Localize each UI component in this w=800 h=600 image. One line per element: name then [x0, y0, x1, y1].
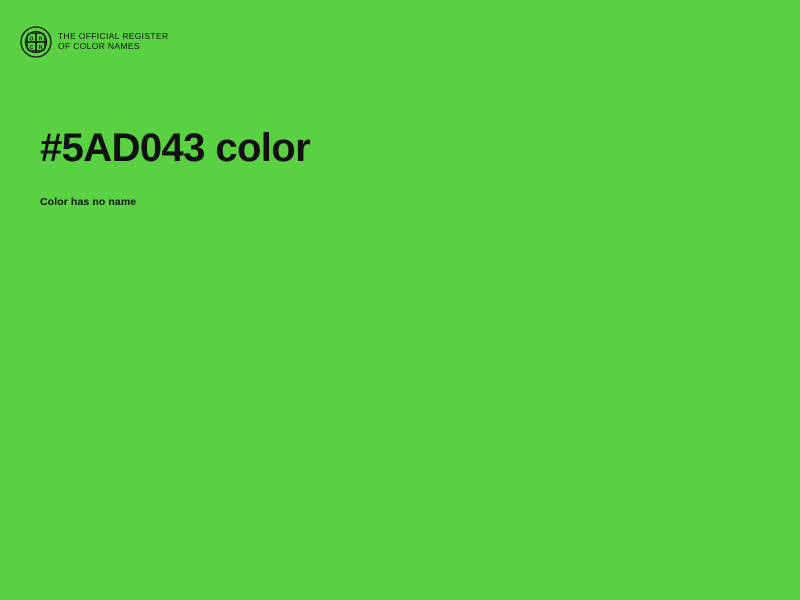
color-name-status: Color has no name	[40, 171, 740, 210]
svg-text:C: C	[30, 45, 34, 51]
brand-wordmark: THE OFFICIAL REGISTER OF COLOR NAMES	[58, 32, 168, 51]
svg-text:R: R	[39, 36, 43, 42]
register-seal-icon: O R C N	[20, 26, 52, 58]
svg-text:N: N	[39, 45, 43, 51]
brand-lockup[interactable]: O R C N THE OFFICIAL REGISTER OF COLOR N…	[20, 26, 168, 58]
svg-text:O: O	[29, 36, 33, 42]
color-page: O R C N THE OFFICIAL REGISTER OF COLOR N…	[0, 0, 800, 600]
page-title: #5AD043 color	[40, 126, 740, 171]
brand-wordmark-line-2: OF COLOR NAMES	[58, 42, 168, 52]
color-info: #5AD043 color Color has no name	[40, 126, 740, 209]
